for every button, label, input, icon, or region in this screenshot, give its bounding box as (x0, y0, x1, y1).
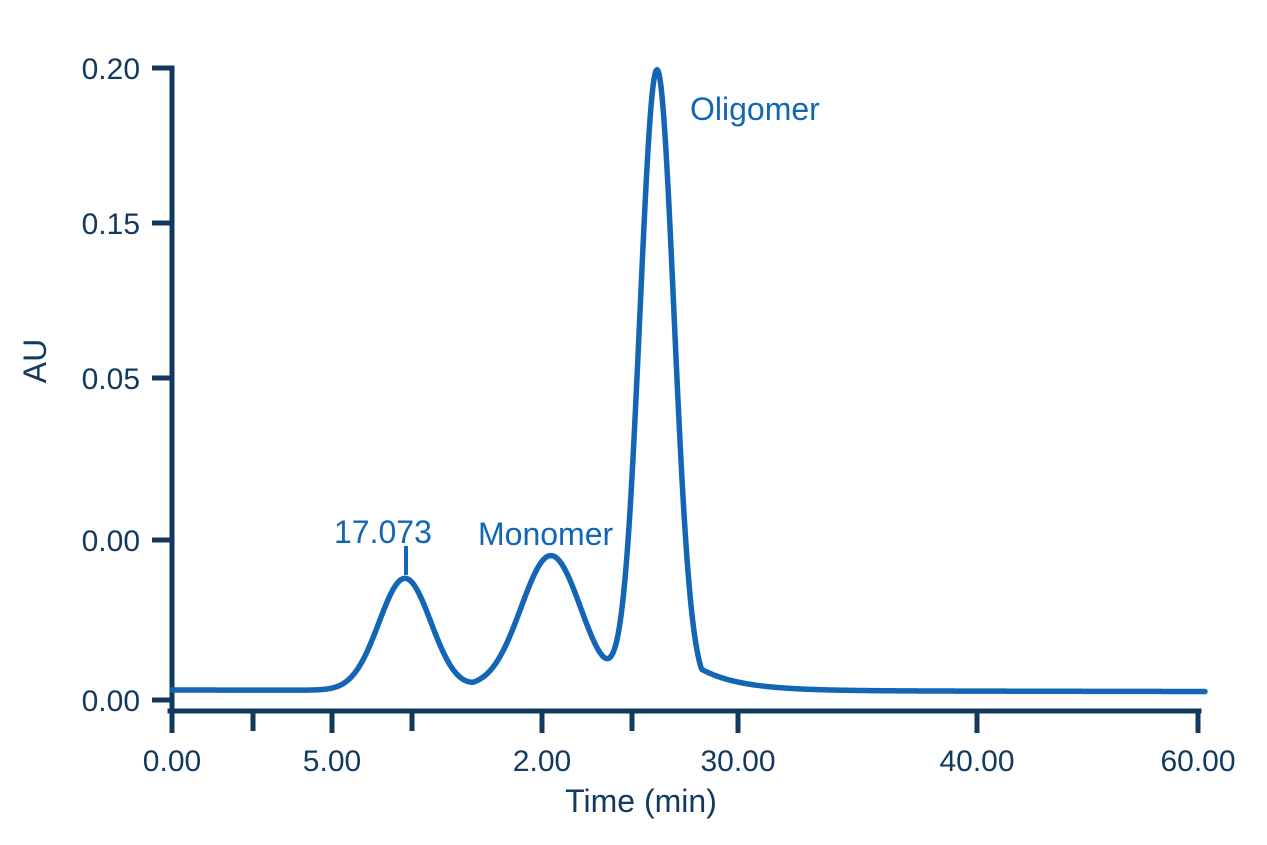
y-tick-label: 0.15 (82, 208, 140, 241)
x-tick-label: 40.00 (939, 745, 1014, 778)
x-axis-title: Time (min) (565, 783, 717, 819)
y-axis-title: AU (17, 339, 53, 383)
x-tick-label: 60.00 (1160, 745, 1235, 778)
chart-canvas: 0.200.150.050.000.00 0.005.002.0030.0040… (0, 0, 1267, 845)
peak-label-text: Oligomer (690, 91, 820, 127)
x-tick-label: 0.00 (143, 745, 201, 778)
x-tick-label: 5.00 (303, 745, 361, 778)
oligomer-annotation: Oligomer (690, 91, 820, 127)
monomer-annotation: Monomer (478, 516, 614, 552)
x-tick-label: 30.00 (700, 745, 775, 778)
y-tick-label: 0.00 (82, 685, 140, 718)
y-tick-label: 0.05 (82, 363, 140, 396)
y-tick-label: 0.20 (82, 53, 140, 86)
chromatogram-figure: 0.200.150.050.000.00 0.005.002.0030.0040… (0, 0, 1267, 845)
x-tick-label: 2.00 (513, 745, 571, 778)
peak-label-text: 17.073 (334, 514, 432, 550)
peak-label-text: Monomer (478, 516, 614, 552)
y-tick-label: 0.00 (82, 525, 140, 558)
